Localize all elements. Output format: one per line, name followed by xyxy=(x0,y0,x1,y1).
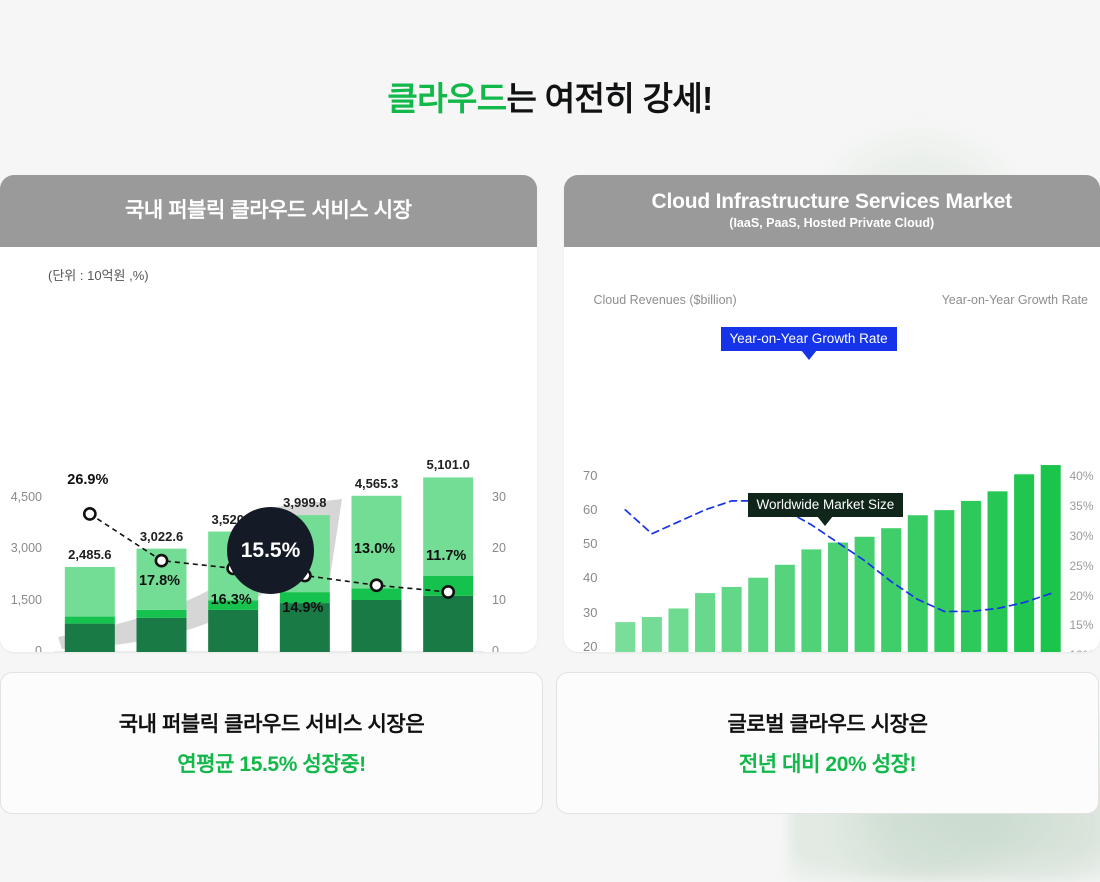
callout-growth-rate: Year-on-Year Growth Rate xyxy=(721,327,897,351)
callout-growth-rate-tip xyxy=(801,350,817,360)
left-y-tick: 3,000 xyxy=(0,541,42,555)
left-y2-tick: 10 xyxy=(492,593,532,607)
right-y-tick: 60 xyxy=(572,502,598,517)
left-y-tick: 1,500 xyxy=(0,593,42,607)
right-y-tick: 50 xyxy=(572,536,598,551)
callout-market-size-label: Worldwide Market Size xyxy=(757,497,895,512)
bar-total-label: 5,101.0 xyxy=(406,457,490,472)
left-y-tick: 4,500 xyxy=(0,490,42,504)
right-card-header: Cloud Infrastructure Services Market (Ia… xyxy=(564,175,1100,247)
right-y-tick: 20 xyxy=(572,639,598,652)
right-card-title: Cloud Infrastructure Services Market xyxy=(564,189,1100,214)
summary-card-domestic: 국내 퍼블릭 클라우드 서비스 시장은 연평균 15.5% 성장중! xyxy=(0,672,543,814)
callout-market-size-tip xyxy=(817,516,833,526)
right-chart-svg xyxy=(564,247,1100,652)
left-y2-tick: 20 xyxy=(492,541,532,555)
right-y2-tick: 10% xyxy=(1070,648,1100,652)
summary-card-domestic-line2: 연평균 15.5% 성장중! xyxy=(177,748,366,778)
summary-card-global: 글로벌 클라우드 시장은 전년 대비 20% 성장! xyxy=(556,672,1099,814)
right-y2-tick: 35% xyxy=(1070,499,1100,513)
right-y-tick: 40 xyxy=(572,570,598,585)
callout-growth-rate-label: Year-on-Year Growth Rate xyxy=(730,331,888,346)
domestic-cloud-market-card: 국내 퍼블릭 클라우드 서비스 시장 (단위 : 10억원 ,%) 01,500… xyxy=(0,175,537,652)
page-title-rest: 는 여전히 강세! xyxy=(506,80,712,117)
left-card-header: 국내 퍼블릭 클라우드 서비스 시장 xyxy=(0,175,537,247)
cagr-badge: 15.5% xyxy=(227,507,314,594)
growth-rate-label: 26.9% xyxy=(43,472,133,488)
growth-rate-label: 14.9% xyxy=(258,600,348,616)
bar-total-label: 3,022.6 xyxy=(120,529,204,544)
right-chart-plot: 0102030405060700%5%10%15%20%25%30%35%40%… xyxy=(564,247,1100,652)
bar-total-label: 2,485.6 xyxy=(48,547,132,562)
growth-rate-label: 11.7% xyxy=(401,548,491,564)
charts-row: 국내 퍼블릭 클라우드 서비스 시장 (단위 : 10억원 ,%) 01,500… xyxy=(0,175,1100,652)
bar-total-label: 4,565.3 xyxy=(335,476,419,491)
summary-cards-row: 국내 퍼블릭 클라우드 서비스 시장은 연평균 15.5% 성장중! 글로벌 클… xyxy=(0,672,1100,814)
summary-card-global-line2: 전년 대비 20% 성장! xyxy=(739,748,916,778)
summary-card-domestic-line1: 국내 퍼블릭 클라우드 서비스 시장은 xyxy=(119,708,425,738)
right-y-tick: 30 xyxy=(572,605,598,620)
growth-rate-label: 17.8% xyxy=(115,573,205,589)
right-y2-tick: 30% xyxy=(1070,529,1100,543)
page-root: 클라우드는 여전히 강세! 국내 퍼블릭 클라우드 서비스 시장 (단위 : 1… xyxy=(0,0,1100,872)
left-y2-tick: 0 xyxy=(492,644,532,652)
summary-card-global-line1: 글로벌 클라우드 시장은 xyxy=(727,708,927,738)
left-y-tick: 0 xyxy=(0,644,42,652)
global-cloud-market-card: Cloud Infrastructure Services Market (Ia… xyxy=(564,175,1100,652)
page-title: 클라우드는 여전히 강세! xyxy=(0,0,1100,115)
page-title-highlight: 클라우드 xyxy=(387,80,506,117)
right-y2-tick: 40% xyxy=(1070,469,1100,483)
right-y2-tick: 15% xyxy=(1070,618,1100,632)
callout-market-size: Worldwide Market Size xyxy=(748,493,904,517)
right-y2-tick: 25% xyxy=(1070,559,1100,573)
right-card-subtitle: (IaaS, PaaS, Hosted Private Cloud) xyxy=(564,216,1100,230)
right-y-tick: 70 xyxy=(572,468,598,483)
left-y2-tick: 30 xyxy=(492,490,532,504)
right-y2-tick: 20% xyxy=(1070,589,1100,603)
